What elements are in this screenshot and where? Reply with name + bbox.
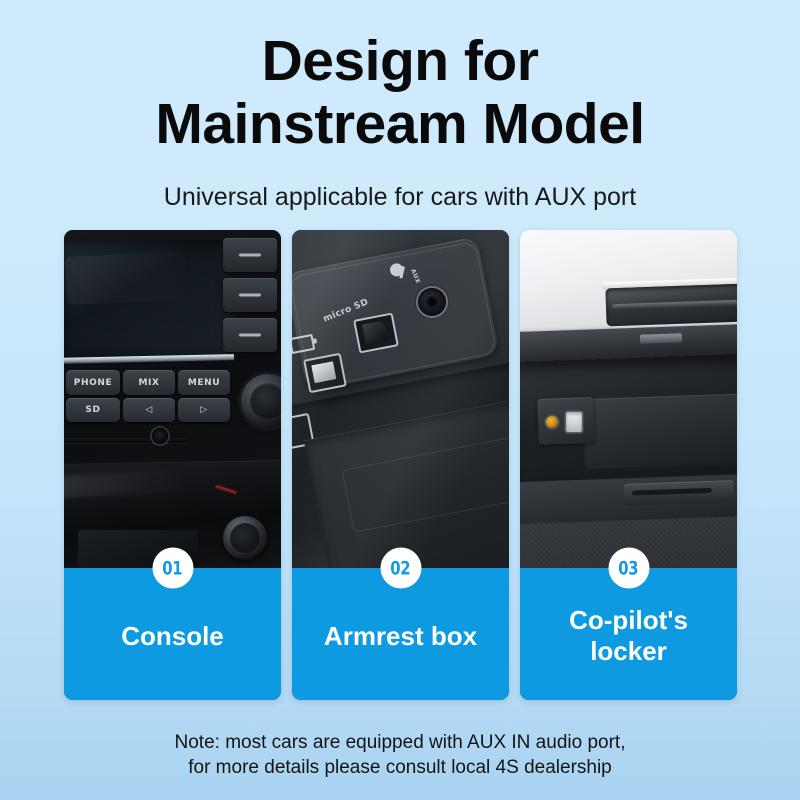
headline-line-2: Mainstream Model xyxy=(0,93,800,156)
feature-card-console[interactable]: PHONE MIX MENU SD ◁ ▷ 01 xyxy=(64,230,281,700)
aux-jack-port xyxy=(546,416,558,428)
air-vent xyxy=(605,284,737,327)
console-glare xyxy=(64,466,244,498)
card-label-copilot-locker: Co-pilot's locker xyxy=(561,605,696,667)
button-mix: MIX xyxy=(123,370,175,395)
copilot-locker-photo xyxy=(520,230,737,568)
badge-number: 03 xyxy=(619,557,639,579)
head-unit-screen xyxy=(64,240,236,360)
card-badge-03: 03 xyxy=(608,548,649,589)
aux-jack-port xyxy=(418,288,446,316)
page-title: Design for Mainstream Model xyxy=(0,30,800,156)
armrest-box-photo: AUX micro SD xyxy=(292,230,509,568)
button-phone: PHONE xyxy=(66,370,120,395)
aux-jack-icon xyxy=(152,428,168,444)
footer-note-line-2: for more details please consult local 4S… xyxy=(0,755,800,780)
side-button-1 xyxy=(223,238,277,272)
feature-card-copilot-locker[interactable]: 03 Co-pilot's locker xyxy=(520,230,737,700)
card-label-armrest-box: Armrest box xyxy=(316,621,485,652)
shelf-chrome-trim xyxy=(640,333,682,343)
screen-glare xyxy=(65,251,187,305)
head-unit-button-row: PHONE MIX MENU SD ◁ ▷ xyxy=(64,370,236,426)
side-button-2 xyxy=(223,278,277,312)
page-subtitle: Universal applicable for cars with AUX p… xyxy=(0,182,800,212)
aux-headphone-icon: AUX xyxy=(389,260,419,289)
cd-slot xyxy=(64,436,190,443)
badge-number: 02 xyxy=(391,557,411,579)
button-menu: MENU xyxy=(178,370,230,395)
climate-knob xyxy=(223,516,267,560)
footer-note: Note: most cars are equipped with AUX IN… xyxy=(0,730,800,780)
footer-note-line-1: Note: most cars are equipped with AUX IN… xyxy=(0,730,800,755)
card-label-console: Console xyxy=(113,621,232,652)
feature-card-armrest-box[interactable]: AUX micro SD 02 Armrest box xyxy=(292,230,509,700)
card-badge-01: 01 xyxy=(152,548,193,589)
button-sd: SD xyxy=(66,398,120,422)
console-photo: PHONE MIX MENU SD ◁ ▷ xyxy=(64,230,281,568)
button-next: ▷ xyxy=(178,398,230,422)
usb-port xyxy=(303,353,347,394)
usb-port xyxy=(566,412,582,432)
feature-card-row: PHONE MIX MENU SD ◁ ▷ 01 xyxy=(64,230,737,700)
locker-tray xyxy=(583,393,737,469)
product-feature-poster: Design for Mainstream Model Universal ap… xyxy=(0,0,800,800)
head-unit-side-buttons xyxy=(223,238,279,356)
headline-line-1: Design for xyxy=(0,30,800,93)
badge-number: 01 xyxy=(163,557,183,579)
volume-knob xyxy=(241,374,281,428)
side-button-3 xyxy=(223,318,277,352)
locker-handle xyxy=(624,480,735,506)
card-badge-02: 02 xyxy=(380,548,421,589)
button-prev: ◁ xyxy=(123,398,175,422)
